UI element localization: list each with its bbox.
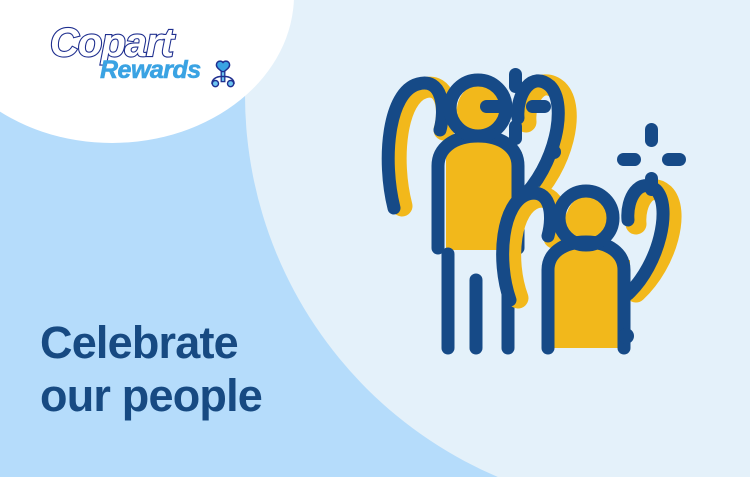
logo-program-text: Rewards <box>100 58 201 83</box>
headline-line-1: Celebrate <box>40 316 400 369</box>
sparkle-right <box>617 123 686 196</box>
two-people-celebrating-illustration <box>368 48 708 378</box>
heart-car-icon <box>206 59 240 89</box>
headline: Celebrate our people <box>40 316 400 422</box>
tall-figure-arm-dot <box>547 145 561 159</box>
logo-second-row: Rewards <box>100 58 240 83</box>
short-figure-arm-dot <box>618 328 634 344</box>
headline-line-2: our people <box>40 369 400 422</box>
copart-rewards-banner: Copart Rewards Celebrate our people <box>0 0 750 477</box>
copart-rewards-logo[interactable]: Copart Rewards <box>38 24 248 96</box>
